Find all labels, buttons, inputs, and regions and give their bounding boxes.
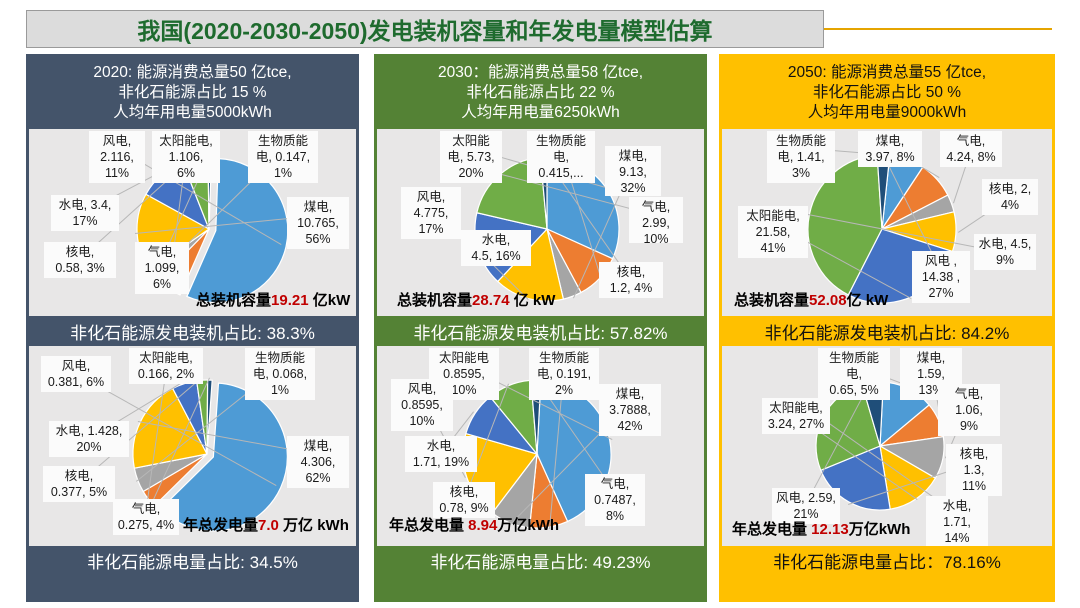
chart-total-caption: 年总发电量 8.94万亿kWh xyxy=(389,514,559,535)
pie-label-生物质能电: 气电, 0.7487, 8% xyxy=(585,474,645,526)
pie-label-水电: 风电, 4.775, 17% xyxy=(401,187,461,239)
panel-2050: 2050: 能源消费总量55 亿tce, 非化石能源占比 50 % 人均年用电量… xyxy=(719,54,1055,602)
panel-2030: 2030：能源消费总量58 亿tce, 非化石能源占比 22 % 人均年用电量6… xyxy=(371,54,707,602)
chart-2030-generation: 太阳能电 0.8595, 10%生物质能 电, 0.191, 2%煤电, 3.7… xyxy=(377,346,704,546)
pie-label-风电: 核电, 1.3, 11% xyxy=(946,444,1002,496)
title-rule xyxy=(824,28,1052,30)
chart-2020-capacity: 风电, 2.116, 11%太阳能电, 1.106, 6%生物质能 电, 0.1… xyxy=(29,129,356,316)
total-unit: 万亿 kWh xyxy=(279,517,349,534)
pie-label-生物质能电: 核电, 1.2, 4% xyxy=(599,262,663,298)
total-prefix: 总装机容量 xyxy=(196,292,271,309)
pie-label-太阳能电: 核电, 0.58, 3% xyxy=(44,242,116,278)
pie-label-水电: 煤电, 10.765, 56% xyxy=(287,197,349,249)
band-2050-capacity-share: 非化石能源发电装机占比: 84.2% xyxy=(722,316,1052,346)
pie-label-生物质能电: 气电, 1.099, 6% xyxy=(135,242,189,294)
pie-label-核电: 气电, 4.24, 8% xyxy=(940,131,1002,167)
pie-label-水电: 风电, 0.8595, 10% xyxy=(391,379,453,431)
pie-label-太阳能电: 核电, 0.78, 9% xyxy=(433,482,495,518)
total-value: 12.13 xyxy=(811,521,849,538)
pie-label-煤电: 风电, 0.381, 6% xyxy=(41,356,111,392)
header-line: 非化石能源占比 22 % xyxy=(466,83,614,103)
band-2020-generation-share: 非化石能源电量占比: 34.5% xyxy=(29,546,356,574)
pie-label-风电: 太阳能电, 21.58, 41% xyxy=(738,206,808,258)
panel-2050-header: 2050: 能源消费总量55 亿tce, 非化石能源占比 50 % 人均年用电量… xyxy=(722,57,1052,129)
total-unit: 万亿kWh xyxy=(849,521,911,538)
total-unit: 亿kW xyxy=(309,292,351,309)
total-unit: 万亿kWh xyxy=(497,517,559,534)
pie-label-煤电: 风电, 2.116, 11% xyxy=(89,131,145,183)
pie-label-气电: 太阳能电, 0.166, 2% xyxy=(129,348,203,384)
header-line: 人均年用电量6250kWh xyxy=(461,103,619,123)
pie-label-核电: 气电, 1.06, 9% xyxy=(938,384,1000,436)
band-2020-capacity-share: 非化石能源发电装机占比: 38.3% xyxy=(29,316,356,346)
chart-2030-capacity: 太阳能 电, 5.73, 20%生物质能 电, 0.415,...煤电, 9.1… xyxy=(377,129,704,316)
pie-label-气电: 生物质能 电, 0.191, 2% xyxy=(529,348,599,400)
pie-label-风电: 水电, 1.71, 19% xyxy=(405,436,477,472)
pie-label-水电: 煤电, 4.306, 62% xyxy=(287,436,349,488)
header-line: 2050: 能源消费总量55 亿tce, xyxy=(788,63,986,83)
pie-label-气电: 生物质能 电, 0.415,... xyxy=(527,131,595,183)
chart-2050-capacity: 生物质能 电, 1.41, 3%煤电, 3.97, 8%气电, 4.24, 8%… xyxy=(722,129,1052,316)
pie-label-生物质能电: 风电 , 14.38 , 27% xyxy=(912,251,970,303)
total-value: 8.94 xyxy=(468,517,497,534)
pie-label-太阳能电: 水电, 4.5, 9% xyxy=(974,234,1036,270)
page-title: 我国(2020-2030-2050)发电装机容量和年发电量模型估算 xyxy=(26,10,824,48)
pie-label-风电: 水电, 1.428, 20% xyxy=(49,421,129,457)
total-value: 28.74 xyxy=(472,292,510,309)
total-value: 19.21 xyxy=(271,292,309,309)
pie-label-核电: 煤电, 9.13, 32% xyxy=(605,146,661,196)
total-unit: 亿 kW xyxy=(847,292,889,309)
total-unit: 亿 kW xyxy=(510,292,556,309)
pie-label-太阳能电: 水电, 1.71, 14% xyxy=(926,496,988,546)
pie-label-水电: 太阳能电, 3.24, 27% xyxy=(762,398,830,434)
chart-total-caption: 总装机容量52.08亿 kW xyxy=(734,289,888,310)
chart-total-caption: 总装机容量19.21 亿kW xyxy=(196,289,350,310)
header-line: 非化石能源占比 50 % xyxy=(813,83,961,103)
header-line: 2030：能源消费总量58 亿tce, xyxy=(438,63,643,83)
total-value: 7.0 xyxy=(258,517,279,534)
chart-total-caption: 年总发电量 12.13万亿kWh xyxy=(732,518,910,539)
panel-2020-header: 2020: 能源消费总量50 亿tce, 非化石能源占比 15 % 人均年用电量… xyxy=(29,57,356,129)
pie-label-生物质能电: 气电, 0.275, 4% xyxy=(113,499,179,535)
band-2050-generation-share: 非化石能源电量占比：78.16% xyxy=(722,546,1052,574)
pie-label-煤电: 太阳能 电, 5.73, 20% xyxy=(440,131,502,183)
header-line: 2020: 能源消费总量50 亿tce, xyxy=(93,63,291,83)
header-line: 非化石能源占比 15 % xyxy=(118,83,266,103)
pie-label-煤电: 生物质能电, 0.65, 5% xyxy=(818,348,890,400)
pie-label-气电: 煤电, 3.97, 8% xyxy=(858,131,922,167)
page-title-text: 我国(2020-2030-2050)发电装机容量和年发电量模型估算 xyxy=(137,12,712,46)
total-prefix: 年总发电量 xyxy=(732,521,811,538)
pie-label-煤电: 生物质能 电, 1.41, 3% xyxy=(767,131,835,183)
total-value: 52.08 xyxy=(809,292,847,309)
pie-label-核电: 生物质能 电, 0.068, 1% xyxy=(245,348,315,400)
pie-label-太阳能电: 核电, 0.377, 5% xyxy=(43,466,115,502)
band-2030-capacity-share: 非化石能源发电装机占比: 57.82% xyxy=(377,316,704,346)
total-prefix: 年总发电量 xyxy=(389,517,468,534)
total-prefix: 总装机容量 xyxy=(397,292,472,309)
pie-label-风电: 水电, 4.5, 16% xyxy=(461,230,531,266)
chart-total-caption: 年总发电量7.0 万亿 kWh xyxy=(183,514,349,535)
pie-label-太阳能电: 气电, 2.99, 10% xyxy=(629,197,683,243)
pie-label-气电: 太阳能电, 1.106, 6% xyxy=(152,131,220,183)
chart-total-caption: 总装机容量28.74 亿 kW xyxy=(397,289,555,310)
pie-label-风电: 水电, 3.4, 17% xyxy=(51,195,119,231)
total-prefix: 总装机容量 xyxy=(734,292,809,309)
total-prefix: 年总发电量 xyxy=(183,517,258,534)
pie-label-核电: 煤电, 3.7888, 42% xyxy=(599,384,661,436)
chart-2050-generation: 生物质能电, 0.65, 5%煤电, 1.59, 13%气电, 1.06, 9%… xyxy=(722,346,1052,546)
pie-slice-生物质能电 xyxy=(207,380,212,454)
pie-label-核电: 生物质能 电, 0.147, 1% xyxy=(248,131,318,183)
header-line: 人均年用电量9000kWh xyxy=(808,103,966,123)
chart-2020-generation: 风电, 0.381, 6%太阳能电, 0.166, 2%生物质能 电, 0.06… xyxy=(29,346,356,546)
panel-2030-header: 2030：能源消费总量58 亿tce, 非化石能源占比 22 % 人均年用电量6… xyxy=(377,57,704,129)
pie-label-水电: 核电, 2, 4% xyxy=(982,179,1038,215)
band-2030-generation-share: 非化石能源电量占比: 49.23% xyxy=(377,546,704,574)
header-line: 人均年用电量5000kWh xyxy=(113,103,271,123)
panel-2020: 2020: 能源消费总量50 亿tce, 非化石能源占比 15 % 人均年用电量… xyxy=(26,54,359,602)
